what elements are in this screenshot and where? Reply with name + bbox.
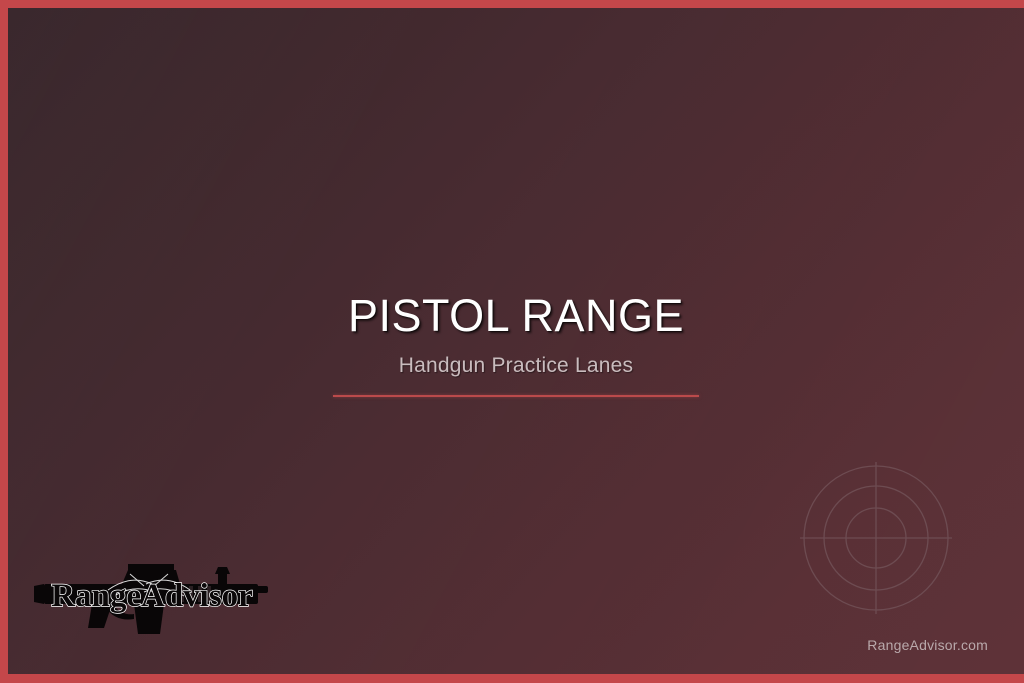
title-block: PISTOL RANGE Handgun Practice Lanes xyxy=(8,292,1024,397)
brand-wordmark: RangeAdvisor xyxy=(51,578,253,614)
title-divider xyxy=(333,395,699,397)
presentation-slide: PISTOL RANGE Handgun Practice Lanes xyxy=(0,0,1024,683)
page-subtitle: Handgun Practice Lanes xyxy=(8,354,1024,378)
footer-url: RangeAdvisor.com xyxy=(867,637,988,653)
target-crosshair-icon xyxy=(796,458,956,618)
page-title: PISTOL RANGE xyxy=(8,292,1024,340)
brand-logo: RangeAdvisor xyxy=(30,550,275,638)
